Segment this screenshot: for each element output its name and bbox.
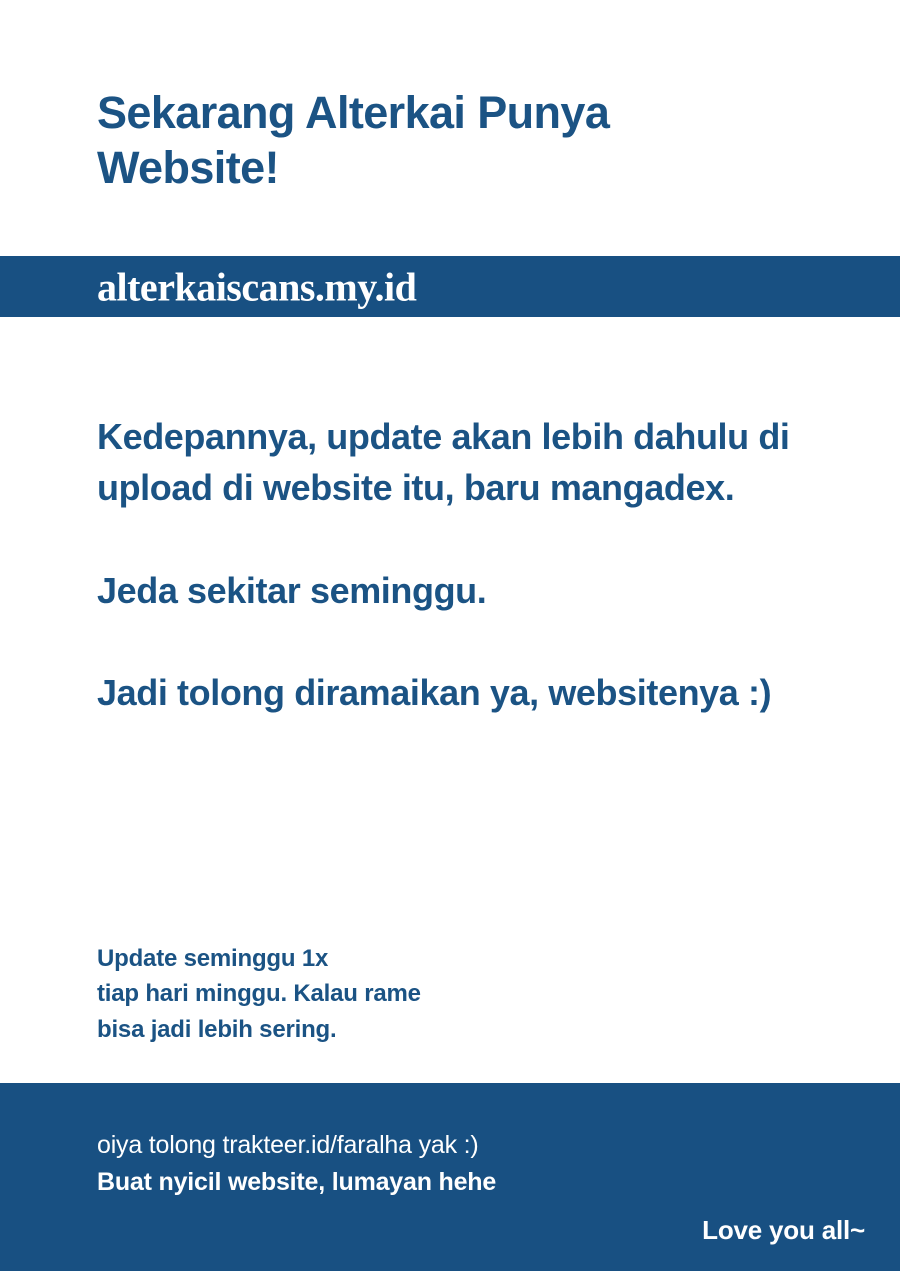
- website-url-banner: alterkaiscans.my.id: [0, 256, 900, 317]
- body-paragraph-1: Kedepannya, update akan lebih dahulu di …: [97, 412, 817, 514]
- body-paragraph-2: Jeda sekitar seminggu.: [97, 566, 817, 617]
- footer-support-note: Buat nyicil website, lumayan hehe: [97, 1168, 496, 1197]
- page-title: Sekarang Alterkai Punya Website!: [97, 86, 797, 196]
- schedule-note: Update seminggu 1x tiap hari minggu. Kal…: [97, 941, 737, 1047]
- footer-support-link[interactable]: oiya tolong trakteer.id/faralha yak :): [97, 1131, 479, 1160]
- footer-band: oiya tolong trakteer.id/faralha yak :) B…: [0, 1083, 900, 1271]
- body-paragraph-3: Jadi tolong diramaikan ya, websitenya :): [97, 668, 817, 719]
- website-url-text[interactable]: alterkaiscans.my.id: [97, 263, 416, 310]
- announcement-poster: Sekarang Alterkai Punya Website! alterka…: [0, 0, 900, 1271]
- body-text-block: Kedepannya, update akan lebih dahulu di …: [97, 412, 817, 719]
- footer-signoff: Love you all~: [702, 1215, 865, 1246]
